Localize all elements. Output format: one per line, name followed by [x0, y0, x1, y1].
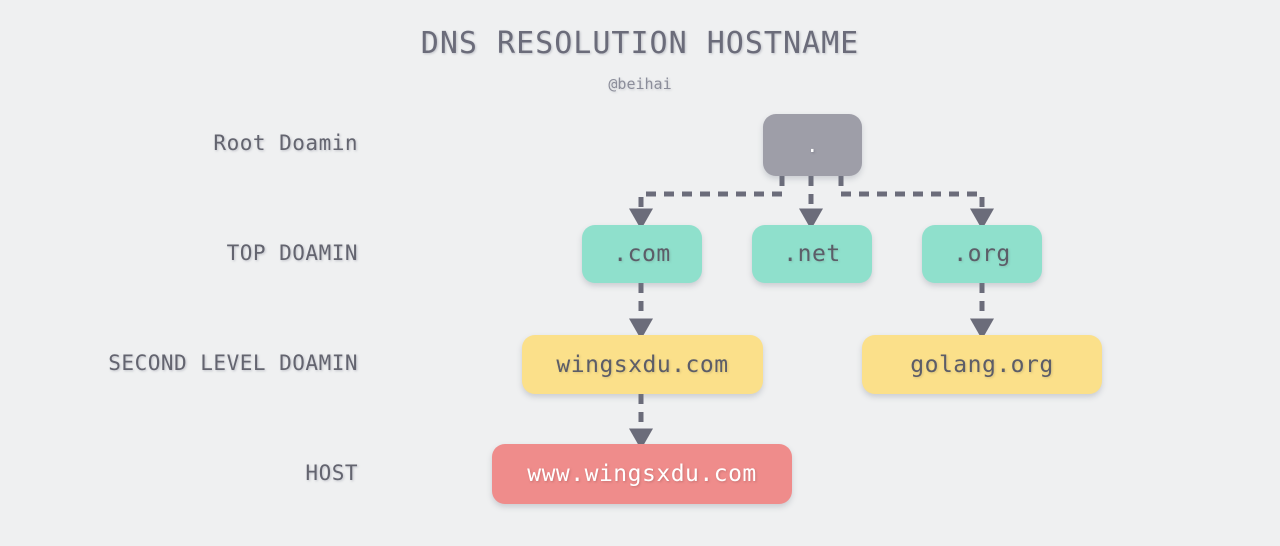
node-tld-com[interactable]: .com — [582, 225, 702, 283]
node-root-domain-label: . — [806, 133, 819, 157]
page-title: DNS RESOLUTION HOSTNAME — [0, 26, 1280, 61]
row-label-top-domain: TOP DOAMIN — [227, 241, 358, 265]
node-host-label: www.wingsxdu.com — [527, 461, 757, 487]
edge-root-to-org — [841, 176, 982, 219]
node-sld-golang-label: golang.org — [910, 352, 1053, 378]
node-sld-wingsxdu[interactable]: wingsxdu.com — [522, 335, 763, 394]
node-host-www-wingsxdu[interactable]: www.wingsxdu.com — [492, 444, 792, 504]
page-subtitle: @beihai — [0, 75, 1280, 93]
node-sld-golang[interactable]: golang.org — [862, 335, 1102, 394]
node-sld-wingsxdu-label: wingsxdu.com — [556, 352, 728, 378]
node-root-domain[interactable]: . — [763, 114, 862, 176]
node-tld-org-label: .org — [953, 241, 1010, 267]
node-tld-net-label: .net — [783, 241, 840, 267]
diagram-canvas: DNS RESOLUTION HOSTNAME @beihai Root Doa… — [0, 0, 1280, 546]
node-tld-org[interactable]: .org — [922, 225, 1042, 283]
edge-root-to-com — [641, 176, 782, 219]
row-label-root-domain: Root Doamin — [213, 131, 358, 155]
row-label-second-level-domain: SECOND LEVEL DOAMIN — [108, 351, 358, 375]
node-tld-net[interactable]: .net — [752, 225, 872, 283]
row-label-host: HOST — [305, 461, 358, 485]
node-tld-com-label: .com — [613, 241, 670, 267]
